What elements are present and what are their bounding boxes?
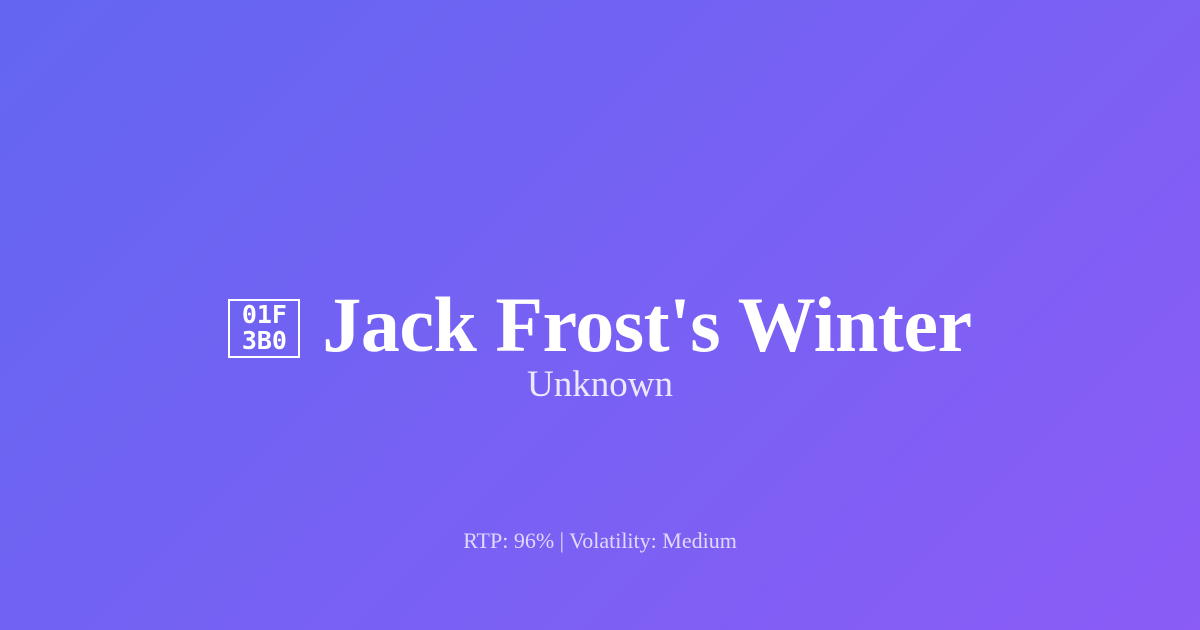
game-title: Jack Frost's Winter xyxy=(322,284,971,366)
slot-machine-icon-codepoint-top: 01F xyxy=(242,302,287,328)
slot-machine-icon-codepoint-bottom: 3B0 xyxy=(242,328,287,354)
game-provider: Unknown xyxy=(0,363,1200,407)
game-banner: 01F 3B0 Jack Frost's Winter Unknown RTP:… xyxy=(0,0,1200,630)
slot-machine-icon: 01F 3B0 xyxy=(228,299,300,358)
game-meta-line: RTP: 96% | Volatility: Medium xyxy=(0,527,1200,556)
